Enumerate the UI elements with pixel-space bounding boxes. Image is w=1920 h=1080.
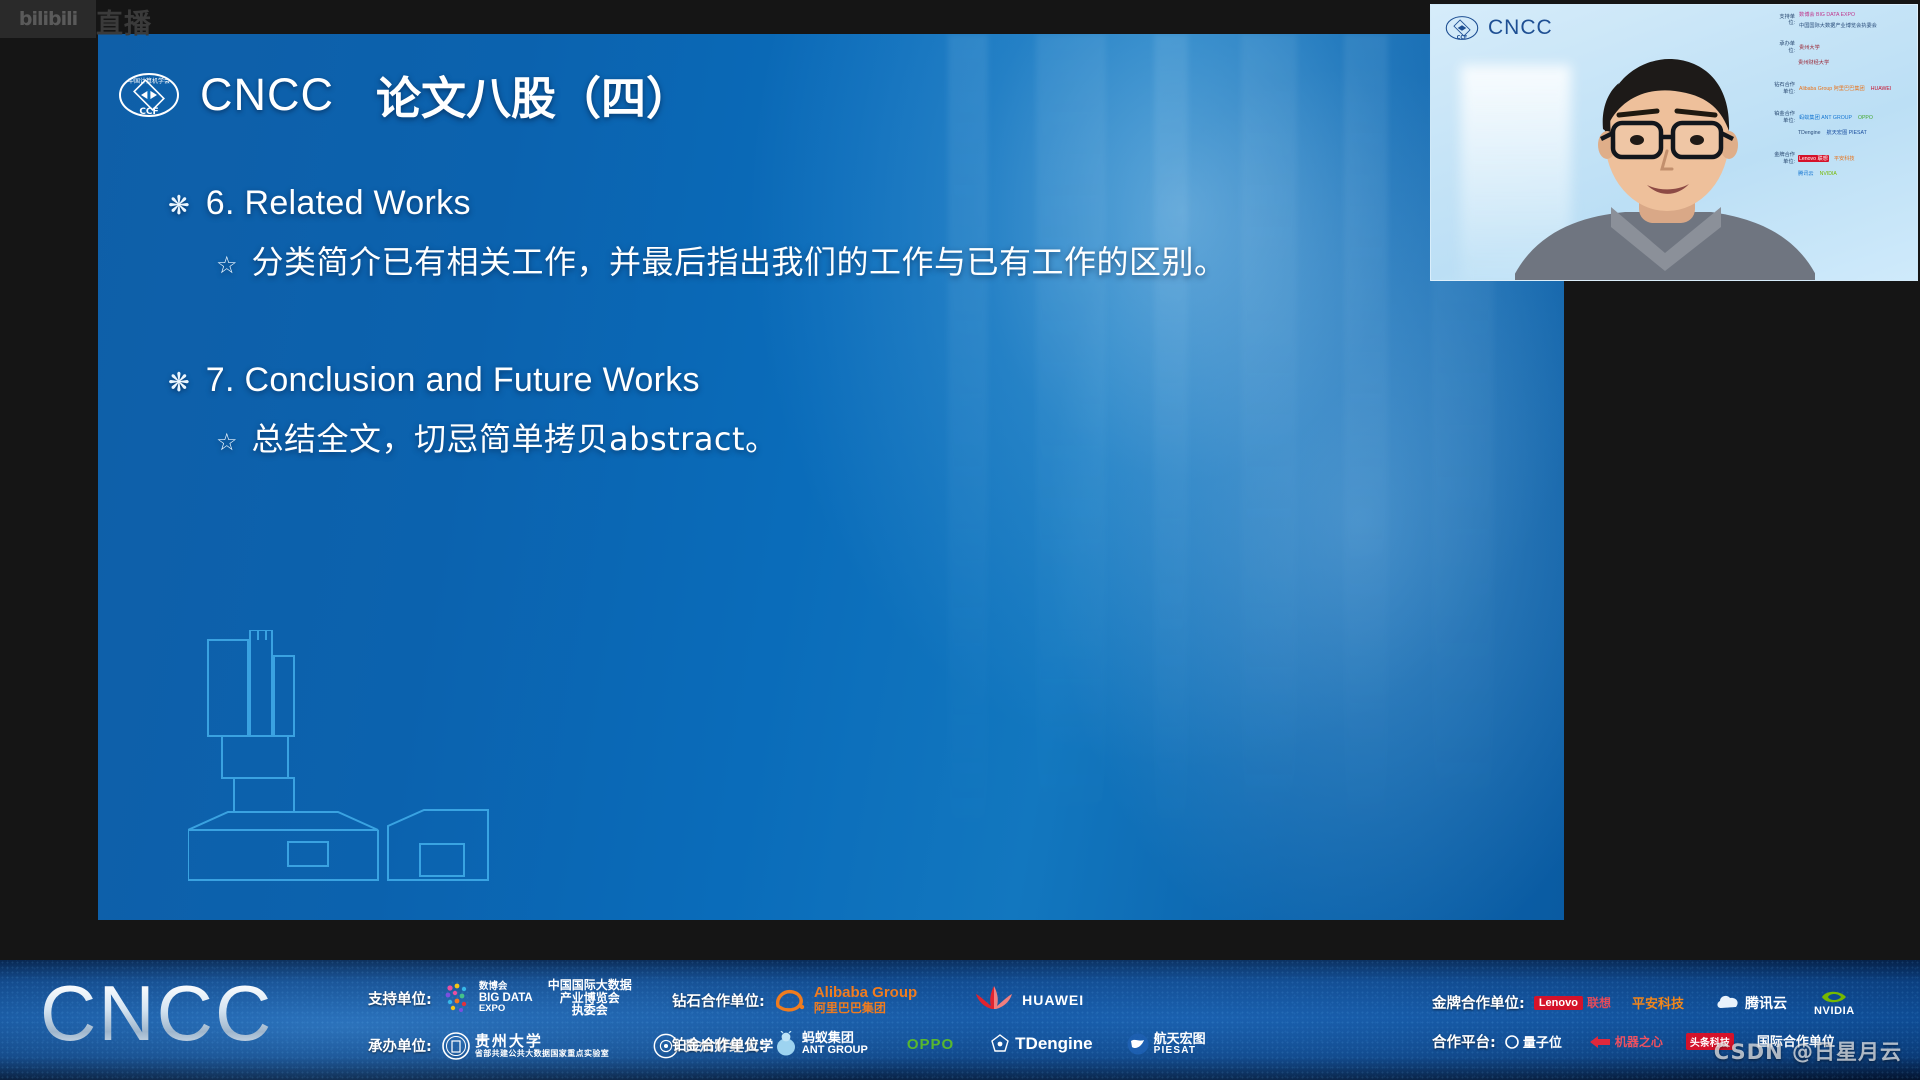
alibaba-mark-icon (774, 987, 810, 1013)
bilibili-logo-text: bilibili (19, 8, 77, 30)
bigdata-expo-mark (441, 981, 475, 1015)
bullet-heading: 7. Conclusion and Future Works (206, 361, 700, 400)
banner-row-label: 支持单位: (368, 988, 432, 1009)
alibaba-logo: Alibaba Group 阿里巴巴集团 (774, 985, 917, 1014)
banner-row-label: 金牌合作单位: (1432, 992, 1525, 1013)
slide-title: 论文八股（四） (376, 62, 691, 127)
guizhou-univ-lab: 省部共建公共大数据国家重点实验室 (475, 1050, 609, 1058)
banner-cncc-wordmark: CNCC (40, 968, 273, 1059)
ant-group-logo: 蚂蚁集团 ANT GROUP (774, 1031, 868, 1057)
tdengine-mark-icon (989, 1033, 1011, 1055)
lenovo-en-name: Lenovo (1534, 996, 1583, 1010)
sponsor-wall-label: 支持单位: (1773, 14, 1795, 27)
svg-text:CCF: CCF (1457, 35, 1467, 41)
piesat-en-name: PIESAT (1154, 1046, 1206, 1057)
alibaba-en-name: Alibaba Group (814, 985, 917, 1001)
slide-header: 中国计算机学会 CCF CNCC 论文八股（四） (118, 62, 691, 127)
bigdata-committee-logo: 中国国际大数据产业博览会执委会 (1798, 22, 1878, 29)
bilibili-live-label: 直播 (96, 2, 152, 41)
city-line-art (188, 630, 608, 890)
ant-cn-name: 蚂蚁集团 (802, 1031, 868, 1045)
ccf-logo: CCF (1445, 15, 1479, 41)
jiqizhixin-name: 机器之心 (1615, 1033, 1663, 1050)
banner-row: 铂金合作单位: 蚂蚁集团 ANT GROUP OPPO (672, 1031, 1206, 1057)
banner-column-partners: 钻石合作单位: Alibaba Group 阿里巴巴集团 (672, 960, 1206, 1080)
guizhou-univ-name: 贵州大学 (475, 1034, 609, 1050)
piesat-globe-icon (1126, 1032, 1150, 1056)
lenovo-logo: Lenovo 联想 (1534, 994, 1611, 1011)
banner-row-label: 钻石合作单位: (672, 990, 765, 1011)
qbitai-circle-icon (1505, 1035, 1519, 1049)
oppo-logo: OPPO (1857, 115, 1874, 121)
bullet-heading: 6. Related Works (206, 184, 471, 223)
bullet-block: ❋ 7. Conclusion and Future Works ☆ 总结全文，… (168, 361, 1534, 460)
bigdata-expo-logo: 数博会 BIG DATA EXPO (1798, 11, 1856, 18)
webcam-branding: CCF CNCC (1445, 15, 1553, 41)
lenovo-cn-name: 联想 (1587, 994, 1611, 1011)
bullet-level1: ❋ 7. Conclusion and Future Works (168, 361, 1534, 400)
tdengine-logo: TDengine (989, 1033, 1092, 1055)
banner-row-label: 承办单位: (368, 1035, 432, 1056)
piesat-logo: 航天宏图 PIESAT (1126, 1032, 1206, 1056)
sponsor-wall-row: 承办单位: 贵州大学 (1773, 41, 1913, 54)
asterisk-bullet-icon: ❋ (168, 369, 190, 395)
bullet-block: ❋ 6. Related Works ☆ 分类简介已有相关工作，并最后指出我们的… (168, 184, 1534, 283)
bullet-level2: ☆ 总结全文，切忌简单拷贝abstract。 (216, 414, 1534, 460)
sponsor-banner: CNCC 支持单位: (0, 960, 1920, 1080)
star-bullet-icon: ☆ (216, 431, 238, 455)
huawei-name: HUAWEI (1022, 992, 1084, 1008)
guizhou-univ-seal-icon (441, 1031, 471, 1061)
jiqizhixin-arrow-icon (1589, 1034, 1611, 1050)
stream-viewport: bilibili 直播 (0, 0, 1920, 1080)
cncc-wordmark: CNCC (200, 69, 334, 121)
pingan-name: 平安科技 (1632, 993, 1684, 1012)
banner-row: 钻石合作单位: Alibaba Group 阿里巴巴集团 (672, 983, 1206, 1017)
nvidia-eye-icon (1820, 988, 1848, 1006)
oppo-logo: OPPO (907, 1036, 954, 1053)
tencent-cloud-name: 腾讯云 (1745, 993, 1787, 1013)
bullet-level2: ☆ 分类简介已有相关工作，并最后指出我们的工作与已有工作的区别。 (216, 237, 1534, 283)
ccf-logo: 中国计算机学会 CCF (118, 71, 180, 119)
expo-line1: 数博会 (479, 982, 533, 992)
qbitai-name: 量子位 (1523, 1032, 1562, 1051)
bigdata-expo-logo: 数博会 BIG DATA EXPO (441, 981, 533, 1015)
presentation-slide: 中国计算机学会 CCF CNCC 论文八股（四） ❋ 6. Related Wo… (98, 34, 1564, 920)
guizhou-university-logo: 贵州大学 (1798, 44, 1821, 51)
banner-row: 金牌合作单位: Lenovo 联想 平安科技 腾讯云 (1432, 988, 1855, 1017)
tencent-cloud-logo: 腾讯云 (1715, 993, 1787, 1013)
oppo-name: OPPO (907, 1036, 954, 1053)
banner-row-label: 铂金合作单位: (672, 1034, 765, 1055)
nvidia-logo: NVIDIA (1819, 171, 1838, 177)
guizhou-university-logo: 贵州大学 省部共建公共大数据国家重点实验室 (441, 1031, 609, 1061)
pingan-tech-logo: 平安科技 (1833, 155, 1856, 162)
huawei-flower-icon (970, 983, 1018, 1017)
tencent-cloud-icon (1715, 993, 1741, 1013)
china-bigdata-expo-committee-logo: 中国国际大数据 产业博览会 执委会 (548, 979, 632, 1017)
piesat-cn-name: 航天宏图 (1154, 1032, 1206, 1046)
asterisk-bullet-icon: ❋ (168, 192, 190, 218)
huawei-logo: HUAWEI (970, 983, 1084, 1017)
presenter-video-figure (1515, 57, 1815, 281)
committee-line1: 中国国际大数据 (548, 979, 632, 992)
committee-line3: 执委会 (572, 1004, 608, 1017)
alibaba-cn-name: 阿里巴巴集团 (814, 1002, 917, 1015)
star-bullet-icon: ☆ (216, 254, 238, 278)
huawei-logo: HUAWEI (1870, 86, 1893, 92)
webcam-cncc-wordmark: CNCC (1488, 16, 1553, 40)
expo-line3: EXPO (479, 1004, 533, 1014)
slide-body: ❋ 6. Related Works ☆ 分类简介已有相关工作，并最后指出我们的… (168, 184, 1534, 504)
qbitai-logo: 量子位 (1505, 1032, 1562, 1051)
sponsor-wall-row: 支持单位: 数博会 BIG DATA EXPO 中国国际大数据产业博览会执委会 (1773, 11, 1913, 29)
tdengine-name: TDengine (1015, 1034, 1092, 1054)
csdn-watermark: CSDN @日星月云 (1714, 1036, 1902, 1066)
bullet-subtext: 总结全文，切忌简单拷贝abstract。 (252, 414, 778, 460)
nvidia-logo: NVIDIA (1814, 988, 1855, 1017)
webcam-overlay[interactable]: CCF CNCC 支持单位: 数博会 BIG DATA EXPO 中国国际大数据… (1430, 4, 1918, 281)
ant-group-mark-icon (774, 1031, 798, 1057)
nvidia-name: NVIDIA (1814, 1006, 1855, 1017)
jiqizhixin-logo: 机器之心 (1589, 1033, 1663, 1050)
bullet-level1: ❋ 6. Related Works (168, 184, 1534, 223)
bullet-subtext: 分类简介已有相关工作，并最后指出我们的工作与已有工作的区别。 (252, 237, 1227, 283)
ant-en-name: ANT GROUP (802, 1045, 868, 1057)
sponsor-wall-label: 承办单位: (1773, 41, 1795, 54)
bilibili-watermark: bilibili (0, 0, 96, 38)
pingan-tech-logo: 平安科技 (1632, 993, 1684, 1012)
piesat-logo: 航天宏图 PIESAT (1826, 129, 1868, 136)
banner-row-label: 合作平台: (1432, 1031, 1496, 1052)
svg-text:CCF: CCF (139, 107, 158, 117)
